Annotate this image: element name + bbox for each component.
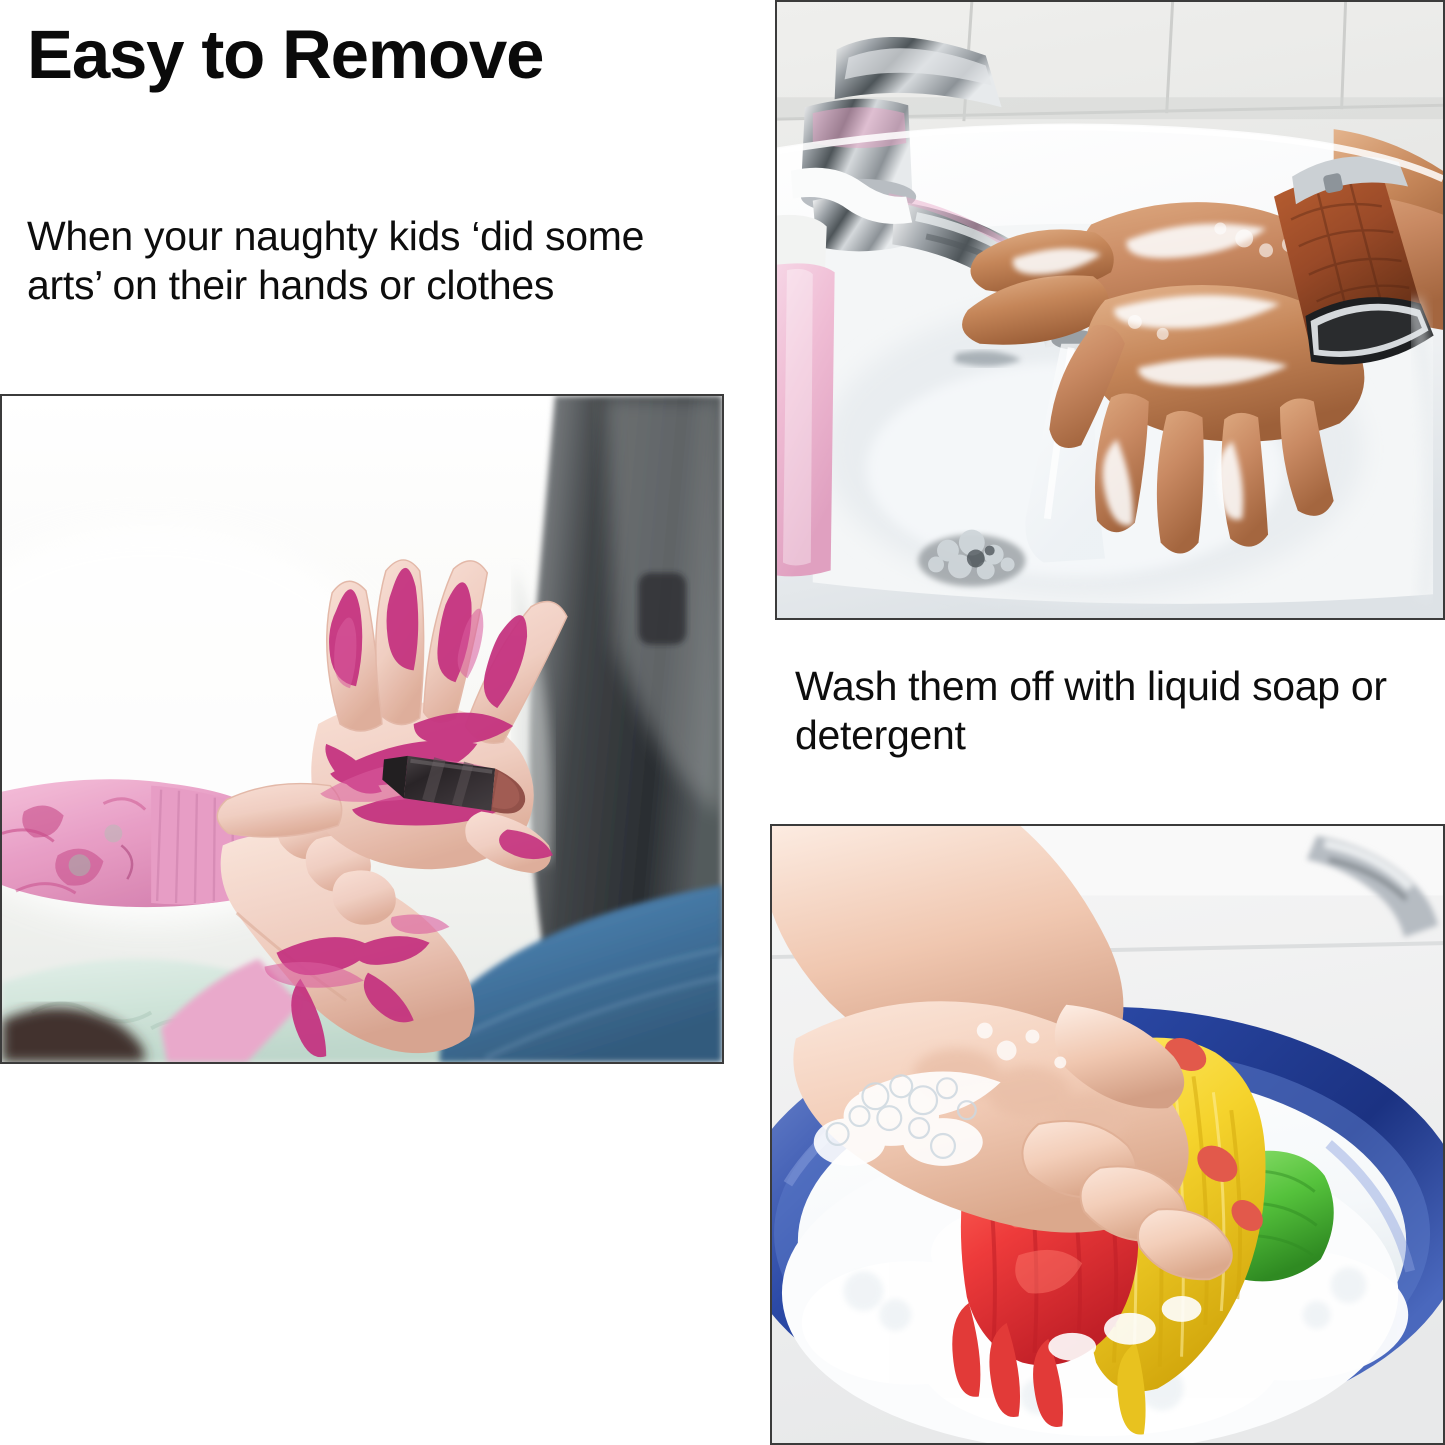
- right-column-caption: Wash them off with liquid soap or deterg…: [795, 662, 1435, 760]
- left-column-caption: When your naughty kids ‘did some arts’ o…: [27, 212, 727, 310]
- marketing-image-canvas: Easy to Remove When your naughty kids ‘d…: [0, 0, 1445, 1445]
- washing-hands-illustration: [777, 2, 1443, 618]
- washing-cloths-illustration: [772, 826, 1443, 1443]
- washing-cloths-photo: [770, 824, 1445, 1445]
- crayon-hands-illustration: [2, 396, 722, 1062]
- crayon-hands-photo: [0, 394, 724, 1064]
- page-title: Easy to Remove: [27, 16, 727, 94]
- washing-hands-photo: [775, 0, 1445, 620]
